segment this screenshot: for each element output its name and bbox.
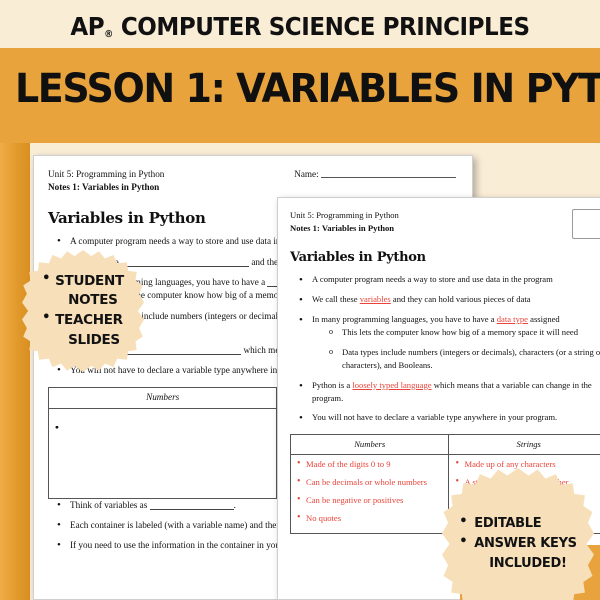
worksheet-preview-area: Unit 5: Programming in Python Notes 1: V… xyxy=(0,143,600,600)
badge-item-label: ANSWER KEYS xyxy=(474,536,577,551)
ap-title-rest: COMPUTER SCIENCE PRINCIPLES xyxy=(113,12,529,41)
numbers-answer-list: Made of the digits 0 to 9 Can be decimal… xyxy=(297,458,442,525)
bullet-text-pre: We call these xyxy=(312,294,360,304)
notes-line: Notes 1: Variables in Python xyxy=(290,222,600,235)
bullet-text: Data types include numbers (integers or … xyxy=(342,347,600,370)
list-item: ANSWER KEYSINCLUDED! xyxy=(459,534,577,574)
fill-in-blank[interactable] xyxy=(150,501,234,510)
fill-in-blank[interactable] xyxy=(121,258,249,267)
bullet-text: This lets the computer know how big of a… xyxy=(342,327,578,337)
bullet-text: You will not have to declare a variable … xyxy=(312,412,557,422)
bullet-text-post: assigned xyxy=(528,314,560,324)
page-title: AP® COMPUTER SCIENCE PRINCIPLES xyxy=(24,12,576,41)
table-header-numbers: Numbers xyxy=(291,435,449,455)
key-term-data-type: data type xyxy=(497,314,528,324)
table-cell-numbers: Made of the digits 0 to 9 Can be decimal… xyxy=(291,455,449,534)
badge-student-list: STUDENTNOTES TEACHERSLIDES xyxy=(42,272,124,350)
badge-editable-list: EDITABLE ANSWER KEYSINCLUDED! xyxy=(459,514,577,574)
list-item: A computer program needs a way to store … xyxy=(312,273,600,286)
registered-trademark-icon: ® xyxy=(104,29,113,40)
badge-student-notes-teacher-slides: STUDENTNOTES TEACHERSLIDES xyxy=(22,250,144,372)
list-item: This lets the computer know how big of a… xyxy=(342,326,600,339)
notes-line: Notes 1: Variables in Python xyxy=(48,181,458,194)
list-item: We call these variables and they can hol… xyxy=(312,293,600,306)
list-item: STUDENTNOTES xyxy=(42,272,124,311)
page-two-heading: Variables in Python xyxy=(290,248,600,268)
lesson-title: LESSON 1: VARIABLES IN PYTHON xyxy=(15,66,585,112)
list-item: Can be decimals or whole numbers xyxy=(297,476,442,489)
key-term-loosely-typed: loosely typed language xyxy=(352,380,431,390)
list-item: Can be negative or positives xyxy=(297,494,442,507)
name-field-row[interactable]: Name: xyxy=(294,168,456,181)
list-item: Data types include numbers (integers or … xyxy=(342,346,600,372)
bullet-text-post: and they can hold various pieces of data xyxy=(391,294,531,304)
table-header-strings: Strings xyxy=(449,435,600,455)
badge-item-label: STUDENT xyxy=(55,273,124,289)
badge-item-label: TEACHER xyxy=(55,312,123,328)
page-two-header: Unit 5: Programming in Python Notes 1: V… xyxy=(290,209,600,235)
left-orange-accent-bar xyxy=(0,143,30,600)
list-item: EDITABLE xyxy=(459,514,577,534)
badge-item-sublabel: NOTES xyxy=(55,291,124,311)
page-two-bullet-list: A computer program needs a way to store … xyxy=(312,273,600,424)
list-item: TEACHERSLIDES xyxy=(42,311,124,350)
list-item: You will not have to declare a variable … xyxy=(312,411,600,424)
badge-item-sublabel: INCLUDED! xyxy=(474,554,577,574)
table-header-numbers: Numbers xyxy=(49,388,277,408)
badge-editable-answer-keys: EDITABLE ANSWER KEYSINCLUDED! xyxy=(442,468,594,600)
table-header-row: Numbers Strings xyxy=(291,435,600,455)
list-item: Python is a loosely typed language which… xyxy=(312,379,600,405)
name-label: Name: xyxy=(294,169,319,179)
list-item: Made up of any characters xyxy=(455,458,600,471)
bullet-text-pre: In many programming languages, you have … xyxy=(312,314,497,324)
unit-line: Unit 5: Programming in Python xyxy=(290,209,600,222)
bullet-text: A computer program needs a way to store … xyxy=(312,274,553,284)
table-cell-numbers[interactable] xyxy=(49,408,277,498)
ap-title-prefix: AP xyxy=(70,12,104,41)
key-term-variables: variables xyxy=(360,294,391,304)
bullet-text-pre: Python is a xyxy=(312,380,352,390)
name-input-line[interactable] xyxy=(321,169,456,178)
badge-item-sublabel: SLIDES xyxy=(55,331,124,351)
list-item: In many programming languages, you have … xyxy=(312,313,600,372)
badge-item-label: EDITABLE xyxy=(474,516,541,531)
list-item: Made of the digits 0 to 9 xyxy=(297,458,442,471)
page-two-sub-list: This lets the computer know how big of a… xyxy=(342,326,600,372)
list-item: No quotes xyxy=(297,512,442,525)
name-field-box[interactable] xyxy=(572,209,600,239)
header-banner: AP® COMPUTER SCIENCE PRINCIPLES LESSON 1… xyxy=(0,0,600,148)
